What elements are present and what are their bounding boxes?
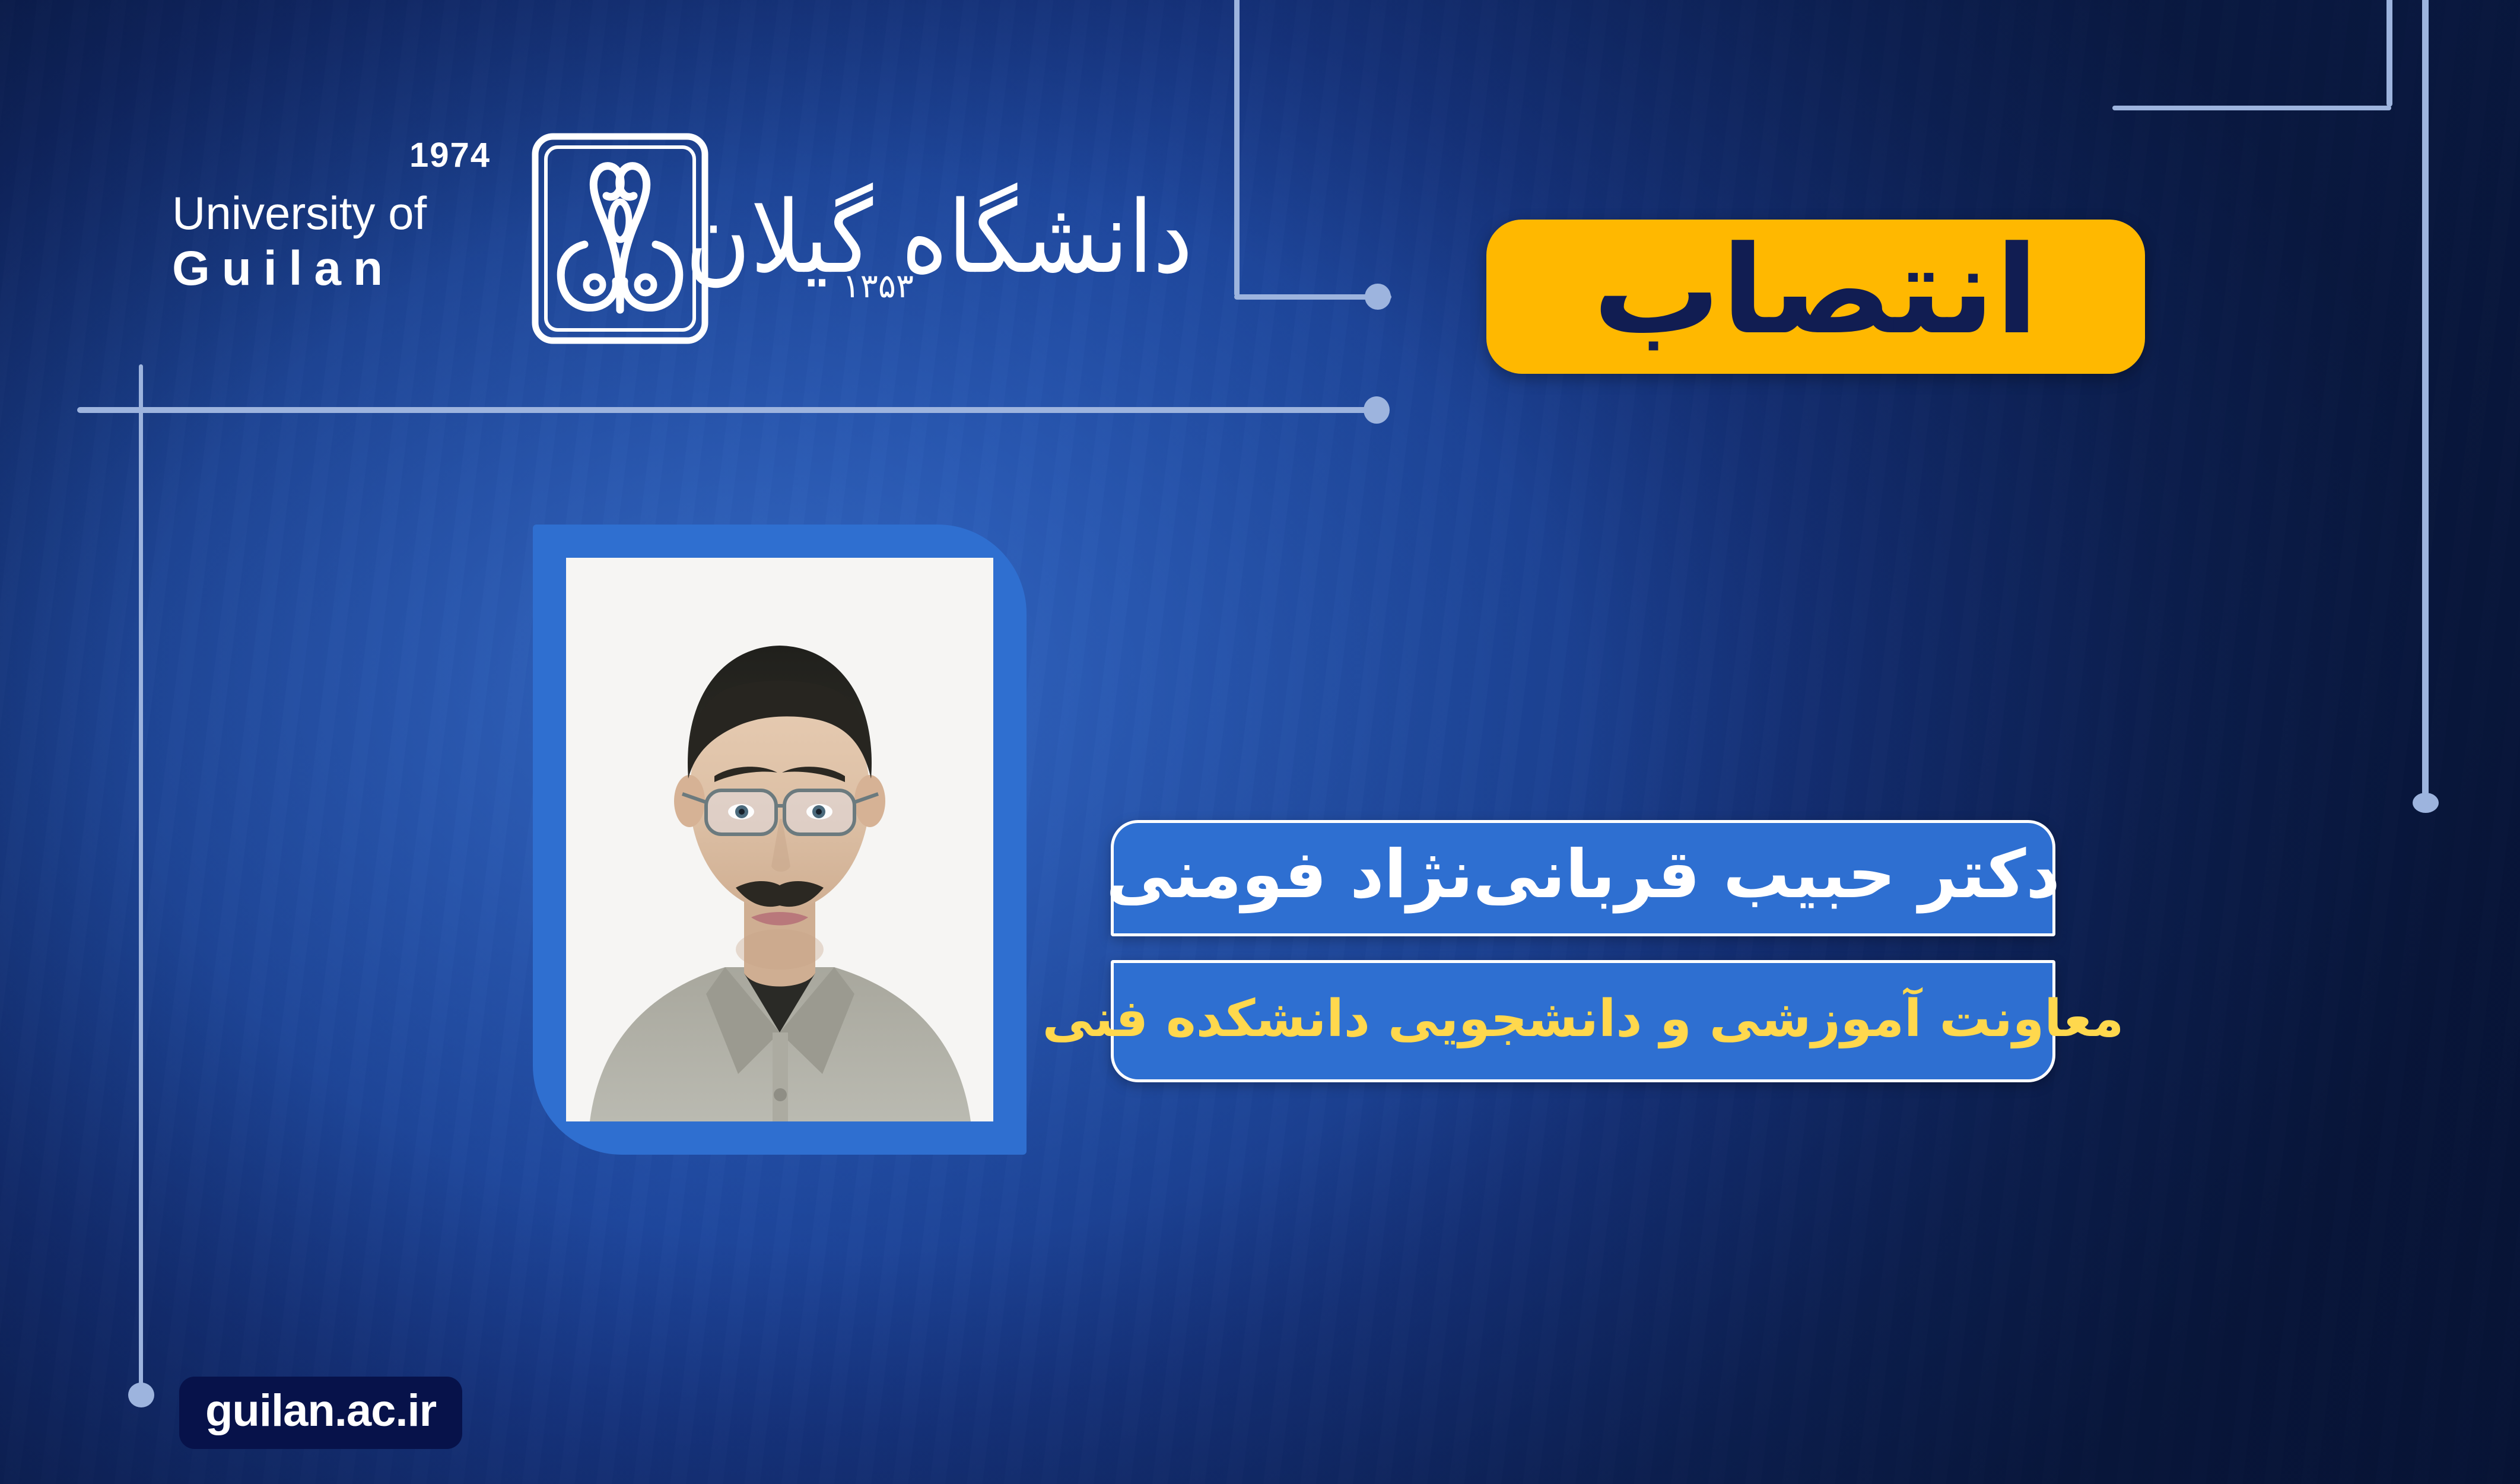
person-position-badge: معاونت آموزشی و دانشجویی دانشکده فنی	[1111, 960, 2055, 1082]
decor-left-vertical-line	[139, 364, 143, 1397]
logo-year-en: 1974	[409, 135, 491, 175]
appointment-announcement-poster: 1974 University of Guilan دانشگاه گیلان …	[0, 0, 2520, 1484]
guilan-butterfly-emblem-icon	[528, 132, 712, 345]
website-url-text: guilan.ac.ir	[205, 1388, 436, 1434]
decor-right-vertical-line-long	[2422, 0, 2429, 801]
portrait-frame	[533, 525, 1027, 1155]
decor-dot-upper-right	[1365, 284, 1391, 310]
decor-top-vertical-line	[1234, 0, 1240, 297]
headline-label: انتصاب	[1593, 230, 2039, 352]
person-name-badge: دکتر حبیب قربانی‌نژاد فومنی	[1111, 820, 2055, 936]
university-logo: 1974 University of Guilan دانشگاه گیلان …	[172, 148, 1216, 398]
logo-persian-text: دانشگاه گیلان ۱۳۵۳	[706, 166, 1193, 356]
decor-dot-bottom-left	[128, 1383, 154, 1407]
logo-line-university-of: University of	[172, 190, 504, 236]
logo-name-fa: دانشگاه گیلان	[685, 166, 1193, 311]
headline-badge: انتصاب	[1486, 220, 2145, 374]
logo-english-text: University of Guilan	[172, 190, 504, 302]
decor-left-horizontal-line	[77, 407, 1388, 413]
logo-line-guilan: Guilan	[172, 236, 504, 302]
portrait-photo	[566, 558, 993, 1121]
decor-dot-right-lower	[2413, 793, 2439, 813]
decor-dot-upper-left	[1364, 396, 1390, 424]
logo-year-fa: ۱۳۵۳	[843, 267, 914, 306]
decor-right-horizontal-line	[2112, 106, 2391, 110]
website-url-badge[interactable]: guilan.ac.ir	[179, 1377, 462, 1449]
person-position: معاونت آموزشی و دانشجویی دانشکده فنی	[1043, 993, 2124, 1044]
person-name: دکتر حبیب قربانی‌نژاد فومنی	[1106, 841, 2060, 908]
decor-right-vertical-line-short	[2386, 0, 2392, 107]
